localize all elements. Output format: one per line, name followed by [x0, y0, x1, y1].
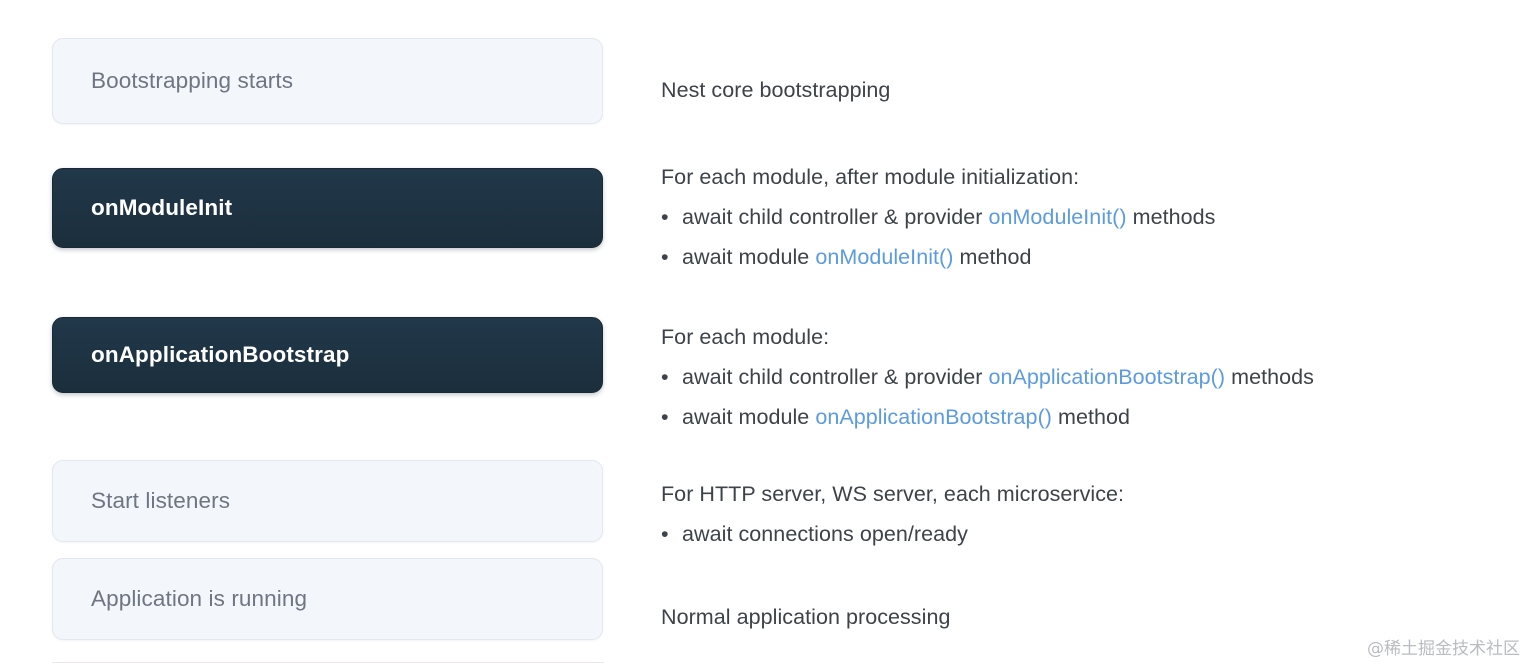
- stage-description-bootstrapping-starts: Nest core bootstrapping: [661, 70, 1524, 110]
- bullet-text-before: await child controller & provider: [682, 205, 988, 229]
- stage-description-on-application-bootstrap: For each module: await child controller …: [661, 317, 1524, 437]
- stage-box-bootstrapping-starts[interactable]: Bootstrapping starts: [52, 38, 603, 124]
- bottom-divider: [52, 662, 604, 663]
- bullet-text-before: await child controller & provider: [682, 365, 988, 389]
- stage-description-start-listeners: For HTTP server, WS server, each microse…: [661, 474, 1524, 554]
- bullet-text-after: methods: [1225, 365, 1314, 389]
- bullet-code-token: onModuleInit(): [815, 245, 953, 269]
- stage-label-on-application-bootstrap: onApplicationBootstrap: [53, 342, 349, 368]
- watermark-label: @稀土掘金技术社区: [1367, 634, 1520, 659]
- description-bullet: await connections open/ready: [661, 514, 1524, 554]
- description-intro: For each module, after module initializa…: [661, 157, 1524, 197]
- bullet-text-before: await module: [682, 245, 815, 269]
- bullet-code-token: onApplicationBootstrap(): [815, 405, 1052, 429]
- description-intro: Nest core bootstrapping: [661, 70, 1524, 110]
- stage-box-application-is-running[interactable]: Application is running: [52, 558, 603, 640]
- bullet-text-before: await module: [682, 405, 815, 429]
- bullet-code-token: onModuleInit(): [988, 205, 1126, 229]
- stage-label-application-is-running: Application is running: [53, 586, 307, 612]
- stage-description-application-is-running: Normal application processing: [661, 597, 1524, 637]
- bullet-code-token: onApplicationBootstrap(): [988, 365, 1225, 389]
- description-intro: Normal application processing: [661, 597, 1524, 637]
- bullet-text-after: method: [1052, 405, 1130, 429]
- description-bullet: await child controller & provider onAppl…: [661, 357, 1524, 397]
- description-bullet: await module onApplicationBootstrap() me…: [661, 397, 1524, 437]
- stage-box-start-listeners[interactable]: Start listeners: [52, 460, 603, 542]
- bullet-text-after: methods: [1127, 205, 1216, 229]
- description-intro: For HTTP server, WS server, each microse…: [661, 474, 1524, 514]
- stage-label-start-listeners: Start listeners: [53, 488, 230, 514]
- bullet-text-before: await connections open/ready: [682, 522, 968, 546]
- lifecycle-diagram: Bootstrapping starts Nest core bootstrap…: [0, 0, 1534, 670]
- stage-description-on-module-init: For each module, after module initializa…: [661, 157, 1524, 277]
- stage-label-on-module-init: onModuleInit: [53, 195, 232, 221]
- description-bullet: await child controller & provider onModu…: [661, 197, 1524, 237]
- bullet-text-after: method: [953, 245, 1031, 269]
- stage-box-on-application-bootstrap[interactable]: onApplicationBootstrap: [52, 317, 603, 393]
- stage-box-on-module-init[interactable]: onModuleInit: [52, 168, 603, 248]
- stage-label-bootstrapping-starts: Bootstrapping starts: [53, 68, 293, 94]
- description-bullet: await module onModuleInit() method: [661, 237, 1524, 277]
- description-intro: For each module:: [661, 317, 1524, 357]
